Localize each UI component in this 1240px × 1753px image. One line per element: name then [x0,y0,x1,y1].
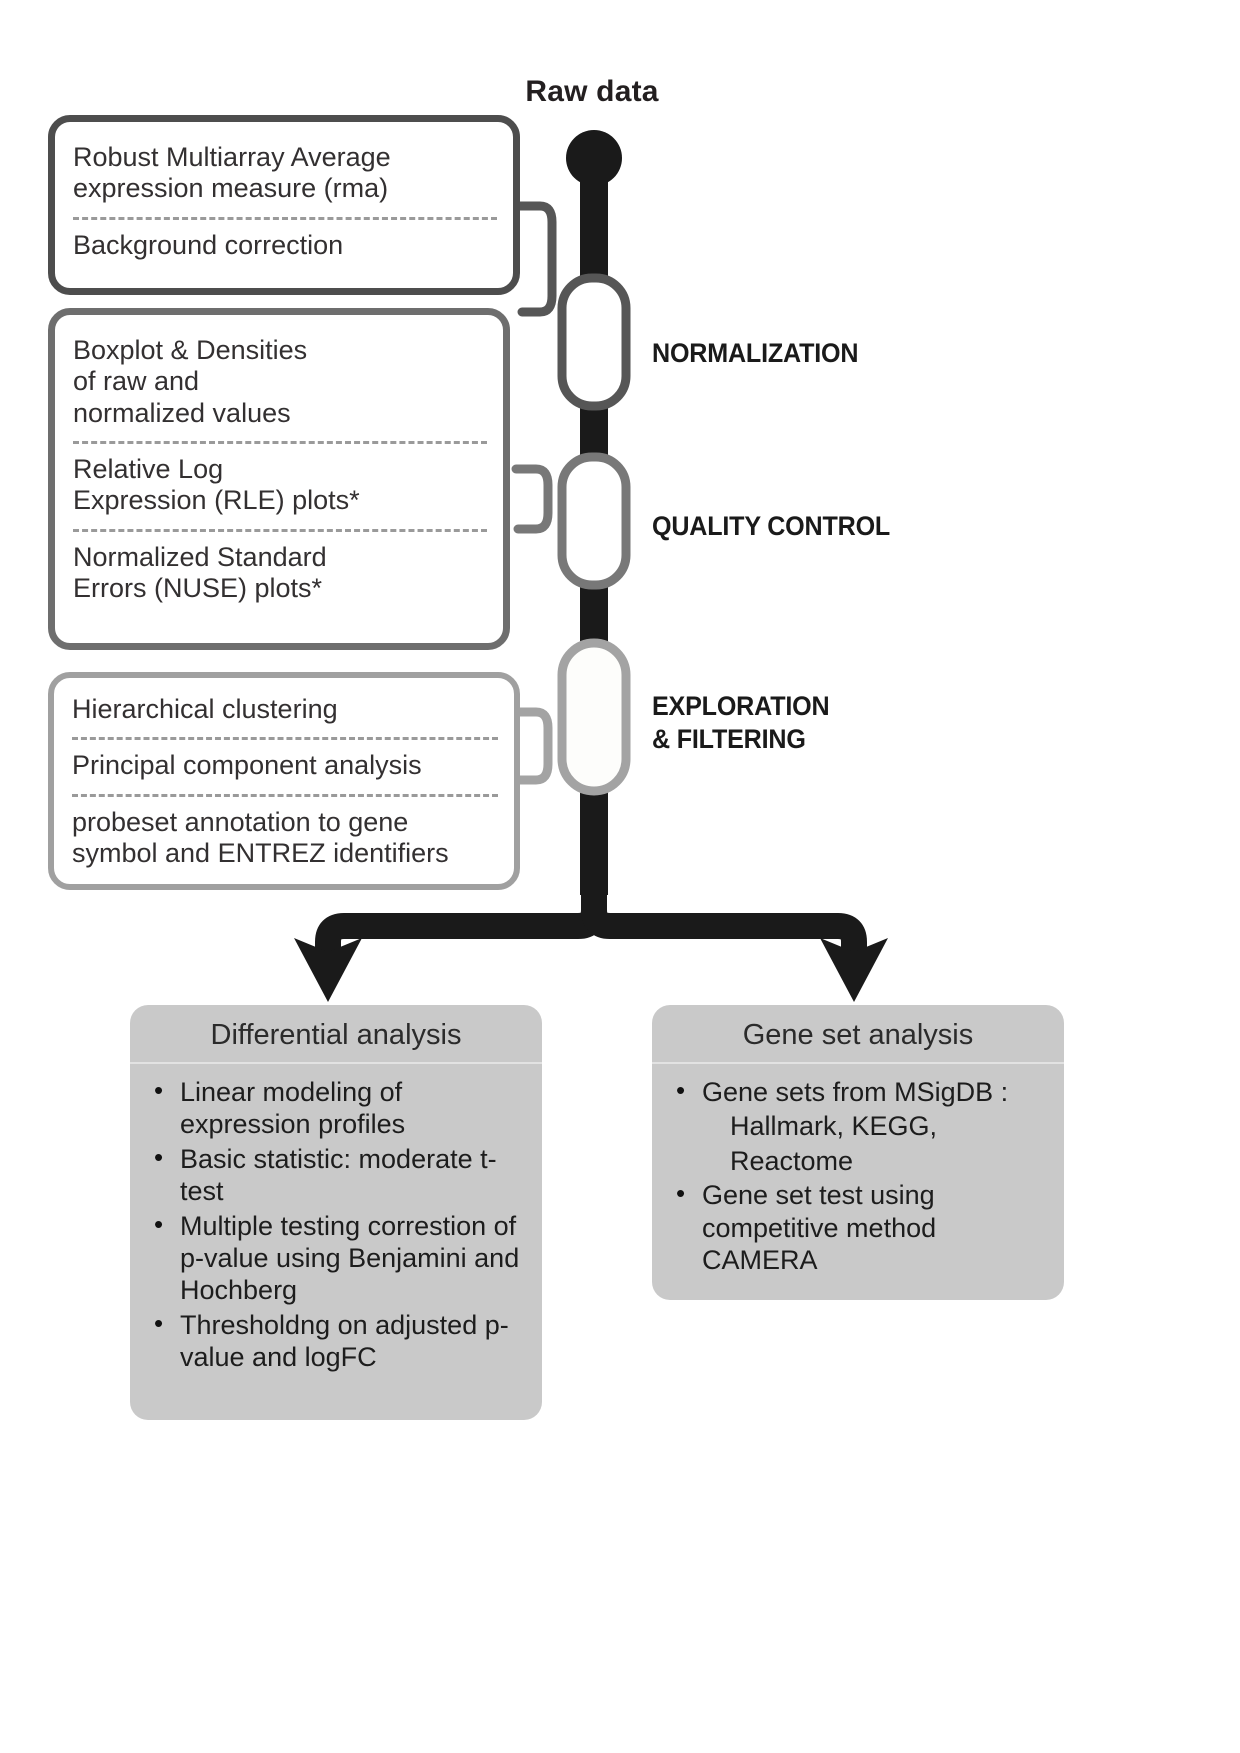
bullet-list-differential-analysis: Linear modeling of expression profiles B… [130,1064,542,1394]
connector-exploration [516,712,548,780]
stage-label-exploration-line2: & FILTERING [652,723,931,756]
connector-quality-control [516,469,548,529]
panel-exploration-segment-3: probeset annotation to gene symbol and E… [70,797,500,884]
stage-label-exploration-filtering: EXPLORATION & FILTERING [652,690,931,756]
bullet-list-gene-set-analysis: Gene sets from MSigDB : Hallmark, KEGG, … [652,1064,1064,1296]
panel-quality-control: Boxplot & Densities of raw and normalize… [48,308,510,650]
panel-normalization-segment-1: Robust Multiarray Average expression mea… [71,130,499,217]
result-title-differential-analysis: Differential analysis [130,1005,542,1062]
list-item-continuation: Reactome [672,1145,1048,1177]
stage-pill-exploration [562,643,626,791]
panel-quality-control-segment-1: Boxplot & Densities of raw and normalize… [71,323,489,441]
list-item: Thresholdng on adjusted p-value and logF… [150,1309,526,1374]
result-title-gene-set-analysis: Gene set analysis [652,1005,1064,1062]
panel-normalization: Robust Multiarray Average expression mea… [48,115,520,295]
panel-exploration-segment-2: Principal component analysis [70,740,500,793]
list-item: Gene sets from MSigDB : [672,1076,1048,1108]
list-item-continuation: Hallmark, KEGG, [672,1110,1048,1142]
stage-label-normalization: NORMALIZATION [652,337,858,370]
stage-label-quality-control: QUALITY CONTROL [652,510,890,543]
list-item: Gene set test using competitive method C… [672,1179,1048,1276]
page-title: Raw data [452,75,732,109]
panel-exploration-segment-1: Hierarchical clustering [70,682,500,737]
list-item: Linear modeling of expression profiles [150,1076,526,1141]
connector-normalization [520,206,552,312]
flowchart-canvas: Raw data Robust Multiarray Average expre… [0,0,1240,1753]
arrowhead-left [294,938,362,1002]
list-item: Multiple testing correstion of p-value u… [150,1210,526,1307]
stage-pill-normalization [562,278,626,406]
result-box-gene-set-analysis: Gene set analysis Gene sets from MSigDB … [652,1005,1064,1300]
panel-normalization-segment-2: Background correction [71,220,499,275]
list-item: Basic statistic: moderate t-test [150,1143,526,1208]
panel-exploration-filtering: Hierarchical clustering Principal compon… [48,672,520,890]
stage-pill-quality-control [562,457,626,585]
result-box-differential-analysis: Differential analysis Linear modeling of… [130,1005,542,1420]
branch-left [328,880,594,960]
panel-quality-control-segment-2: Relative Log Expression (RLE) plots* [71,444,489,529]
spine-trunk [580,150,608,895]
branch-right [594,880,854,960]
stage-label-exploration-line1: EXPLORATION [652,690,931,723]
raw-data-circle [566,130,622,186]
panel-quality-control-segment-3: Normalized Standard Errors (NUSE) plots* [71,532,489,619]
arrowhead-right [820,938,888,1002]
